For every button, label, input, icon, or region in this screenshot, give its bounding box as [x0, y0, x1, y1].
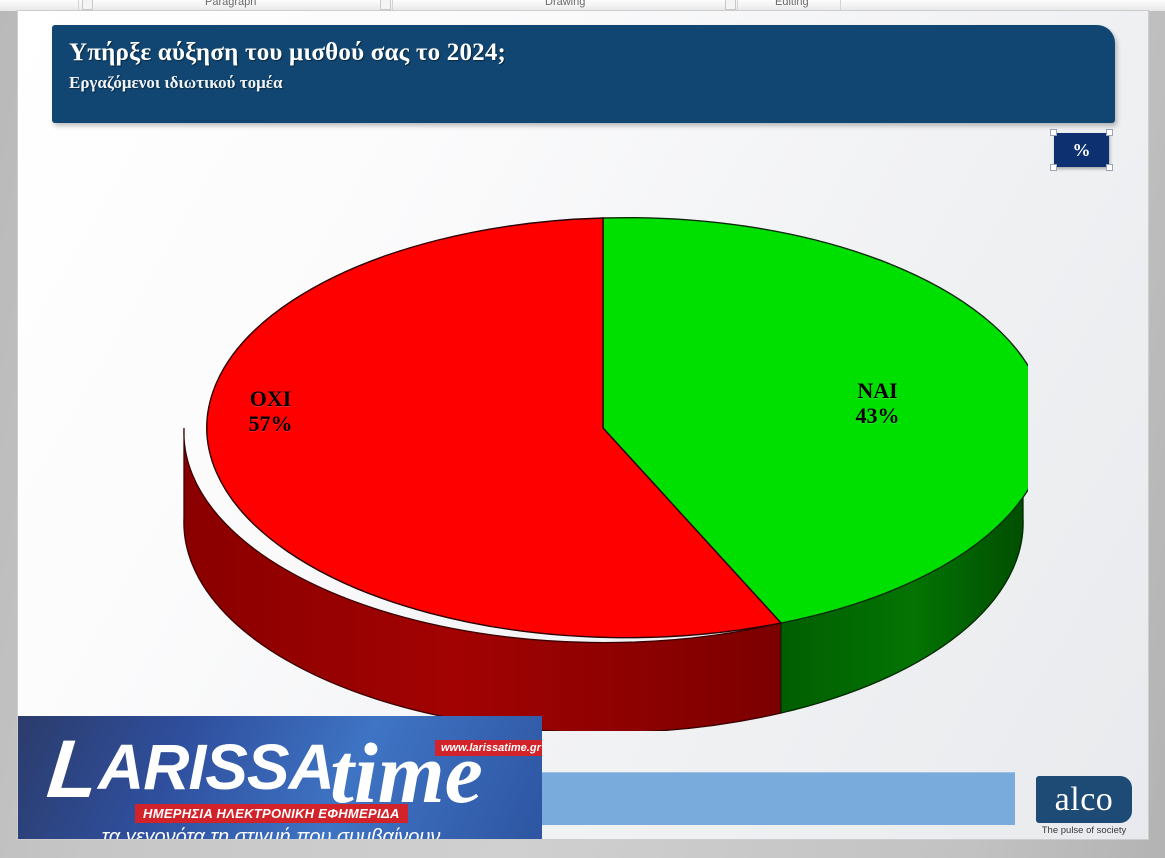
ribbon-divider [78, 0, 79, 11]
ribbon-divider [737, 0, 738, 11]
slide-canvas[interactable]: Υπήρξε αύξηση του μισθού σας το 2024; Ερ… [18, 11, 1148, 839]
powerpoint-workspace: Υπήρξε αύξηση του μισθού σας το 2024; Ερ… [0, 11, 1165, 858]
percent-symbol: % [1073, 140, 1091, 161]
alco-logo[interactable]: alco The pulse of society [1036, 776, 1132, 836]
resize-handle-tr[interactable] [1106, 129, 1113, 136]
pie-label-yes-name: ΝΑΙ [830, 378, 925, 403]
pie-label-no-name: ΟΧΙ [223, 386, 318, 411]
logo-word-arissa: ARISSA [98, 735, 334, 799]
ribbon-group-drawing: Drawing [545, 0, 585, 8]
slide-title-bar[interactable]: Υπήρξε αύξηση του μισθού σας το 2024; Ερ… [52, 25, 1115, 123]
alco-tagline: The pulse of society [1036, 825, 1132, 836]
pie-label-no: ΟΧΙ 57% [223, 386, 318, 436]
pie-label-no-value: 57% [223, 411, 318, 436]
resize-handle-tl[interactable] [1050, 129, 1057, 136]
logo-letter-l: L [44, 736, 101, 805]
paragraph-dialog-launcher-2[interactable] [380, 0, 391, 10]
pie-chart-svg [148, 186, 1028, 731]
pie-chart[interactable] [148, 186, 1028, 731]
pie-label-yes: ΝΑΙ 43% [830, 378, 925, 428]
larissatime-tagline: τα γεγονότα τη στιγμή που συμβαίνουν [18, 826, 542, 839]
page-title: Υπήρξε αύξηση του μισθού σας το 2024; [69, 39, 506, 67]
percent-legend-box[interactable]: % [1054, 133, 1109, 167]
alco-logo-name: alco [1055, 783, 1114, 817]
larissatime-wordmark: L ARISSA time www.larissatime.gr ΗΜΕΡΗΣΙ… [40, 730, 520, 810]
drawing-dialog-launcher[interactable] [725, 0, 736, 10]
paragraph-dialog-launcher[interactable] [82, 0, 93, 10]
alco-logo-box: alco [1036, 776, 1132, 823]
ribbon-divider [840, 0, 841, 11]
resize-handle-bl[interactable] [1050, 164, 1057, 171]
pie-label-yes-value: 43% [830, 403, 925, 428]
ribbon-divider [392, 0, 393, 11]
page-subtitle: Εργαζόμενοι ιδιωτικού τομέα [69, 73, 282, 93]
ribbon-group-paragraph: Paragraph [205, 0, 256, 8]
resize-handle-br[interactable] [1106, 164, 1113, 171]
logo-subtitle-badge: ΗΜΕΡΗΣΙΑ ΗΛΕΚΤΡΟΝΙΚΗ ΕΦΗΜΕΡΙΔΑ [135, 804, 408, 823]
logo-url-badge[interactable]: www.larissatime.gr [435, 740, 542, 756]
larissatime-logo[interactable]: L ARISSA time www.larissatime.gr ΗΜΕΡΗΣΙ… [18, 716, 542, 839]
footer-blue-bar [524, 772, 1015, 825]
ribbon-group-editing: Editing [775, 0, 809, 8]
